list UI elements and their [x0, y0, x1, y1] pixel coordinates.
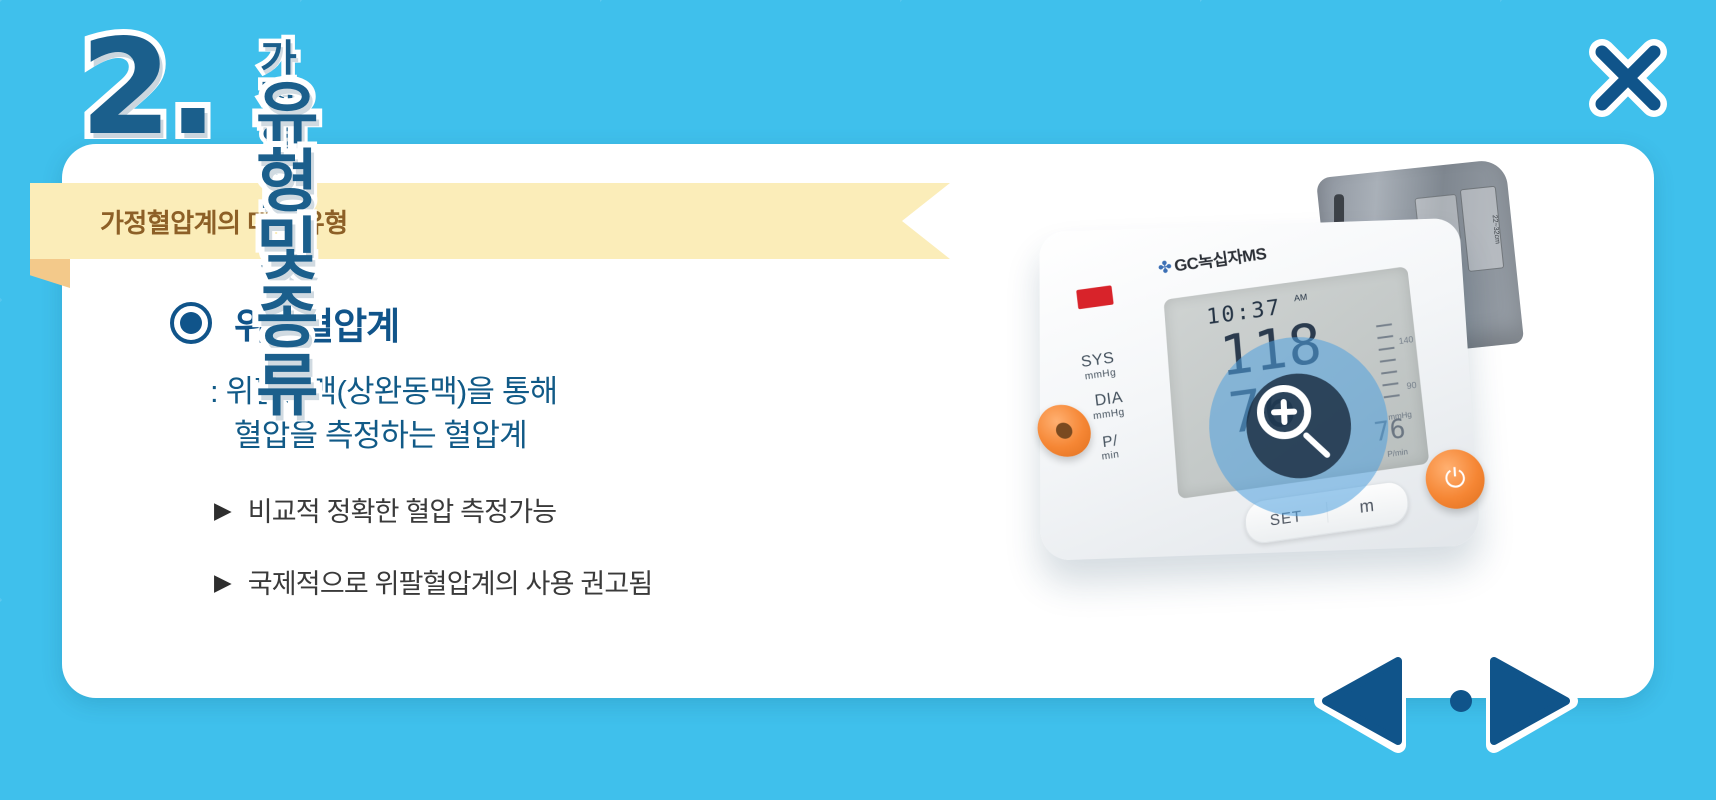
- brand-mark-icon: ✤: [1157, 258, 1173, 279]
- close-x-icon: [1580, 30, 1676, 126]
- triangle-bullet-icon: ▶: [214, 496, 232, 525]
- page-indicator-dot: [1450, 690, 1472, 712]
- title-number: 2.: [80, 22, 214, 154]
- ribbon-banner: 가정혈압계의 대표 유형: [30, 183, 950, 259]
- triangle-bullet-icon: ▶: [214, 568, 232, 597]
- magnifier-plus-icon: [1254, 381, 1344, 471]
- title-line-2: 유형 및 종류: [256, 80, 318, 420]
- power-button[interactable]: ⏻: [1424, 448, 1487, 509]
- brand-logo: ✤GC녹십자MS: [1156, 240, 1267, 279]
- list-item: ▶ 비교적 정확한 혈압 측정가능: [214, 496, 970, 530]
- display-ampm: AM: [1294, 292, 1308, 303]
- list-item-label: 국제적으로 위팔혈압계의 사용 권고됨: [248, 568, 653, 602]
- monitor-body: ✤GC녹십자MS 10:37 AM 118 76 mmHg 76 P/min 1…: [1039, 218, 1480, 561]
- certification-badge: [1076, 285, 1114, 309]
- next-button[interactable]: [1472, 645, 1590, 762]
- brand-name: GC녹십자MS: [1173, 245, 1267, 276]
- list-item: ▶ 국제적으로 위팔혈압계의 사용 권고됨: [214, 568, 970, 602]
- scale-label-high: 140: [1398, 334, 1414, 346]
- cuff-size-label: 22~32cm: [1460, 186, 1504, 272]
- power-icon: ⏻: [1444, 462, 1467, 495]
- triangle-right-icon: [1472, 645, 1590, 757]
- blood-pressure-monitor-image[interactable]: 22~32cm ✤GC녹십자MS 10:37 AM 118 76 mmHg 76…: [1020, 168, 1580, 588]
- scale-label-low: 90: [1406, 380, 1417, 391]
- label-dia: DIA mmHg: [1091, 389, 1126, 422]
- display-pulse-label: P/min: [1387, 447, 1408, 459]
- prev-button[interactable]: [1302, 645, 1420, 762]
- content-description: : 위팔동맥(상완동맥)을 통해 혈압을 측정하는 혈압계: [210, 370, 970, 458]
- label-sys: SYS mmHg: [1080, 350, 1117, 383]
- description-line-2: 혈압을 측정하는 혈압계: [210, 414, 970, 458]
- label-pmin: P/ min: [1099, 432, 1120, 463]
- triangle-left-icon: [1302, 645, 1420, 757]
- close-button[interactable]: [1580, 30, 1676, 126]
- label-pmin-unit: min: [1101, 449, 1120, 463]
- radio-bullet-icon: [170, 302, 212, 344]
- list-item-label: 비교적 정확한 혈압 측정가능: [248, 496, 557, 530]
- side-dial-left[interactable]: [1035, 405, 1094, 457]
